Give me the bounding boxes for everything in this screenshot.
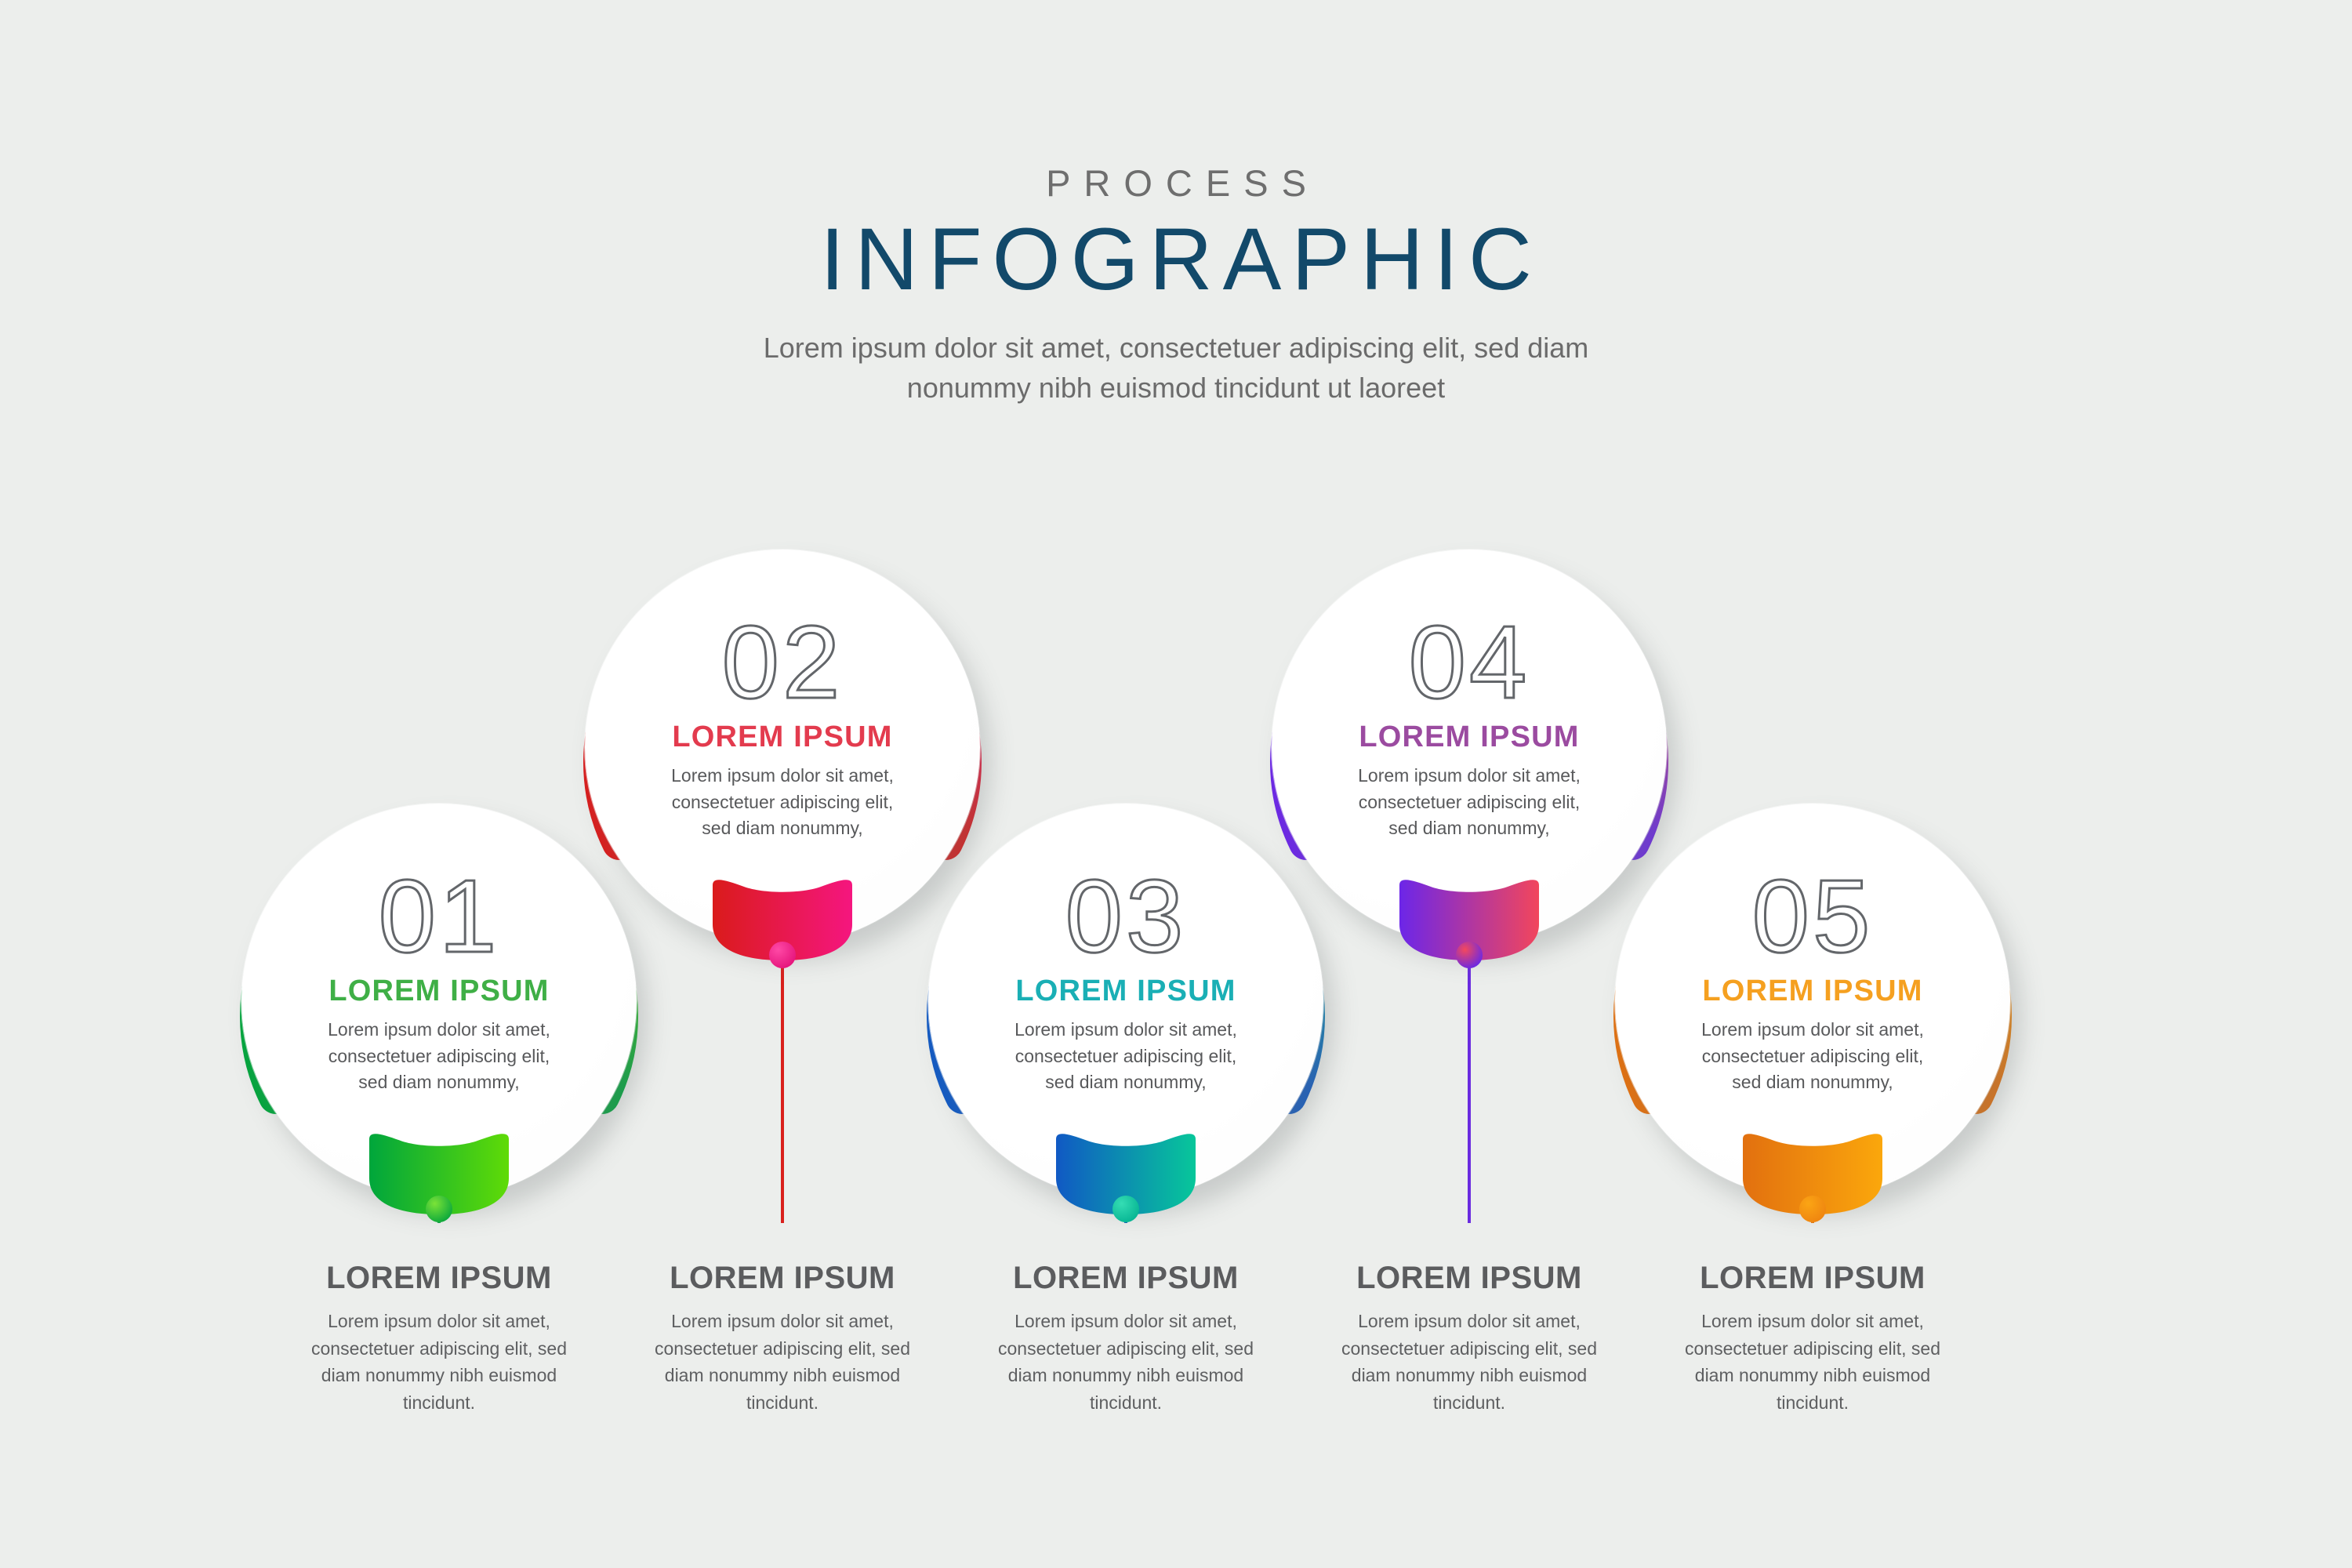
step-dot-05	[1799, 1196, 1826, 1222]
caption-title-2: LOREM IPSUM	[594, 1262, 971, 1294]
subtitle-line-1: Lorem ipsum dolor sit amet, consectetuer…	[737, 328, 1615, 368]
step-dot-03	[1112, 1196, 1139, 1222]
header: PROCESS INFOGRAPHIC Lorem ipsum dolor si…	[0, 165, 2352, 408]
caption-title-3: LOREM IPSUM	[938, 1262, 1314, 1294]
step-dot-01	[426, 1196, 452, 1222]
caption-title-5: LOREM IPSUM	[1624, 1262, 2001, 1294]
caption-desc-3: Lorem ipsum dolor sit amet,consectetuer …	[938, 1308, 1314, 1416]
step-dot-02	[769, 942, 796, 968]
caption-5: LOREM IPSUMLorem ipsum dolor sit amet,co…	[1624, 1262, 2001, 1416]
subtitle-line-2: nonummy nibh euismod tincidunt ut laoree…	[737, 368, 1615, 408]
caption-desc-2: Lorem ipsum dolor sit amet,consectetuer …	[594, 1308, 971, 1416]
page-subtitle: Lorem ipsum dolor sit amet, consectetuer…	[737, 328, 1615, 408]
connector-stem-02	[781, 955, 784, 1223]
caption-desc-1: Lorem ipsum dolor sit amet,consectetuer …	[251, 1308, 627, 1416]
page-kicker: PROCESS	[0, 165, 2352, 201]
caption-desc-5: Lorem ipsum dolor sit amet,consectetuer …	[1624, 1308, 2001, 1416]
caption-title-4: LOREM IPSUM	[1281, 1262, 1657, 1294]
caption-2: LOREM IPSUMLorem ipsum dolor sit amet,co…	[594, 1262, 971, 1416]
connector-stem-04	[1468, 955, 1471, 1223]
caption-desc-4: Lorem ipsum dolor sit amet,consectetuer …	[1281, 1308, 1657, 1416]
infographic-canvas: PROCESS INFOGRAPHIC Lorem ipsum dolor si…	[0, 0, 2352, 1568]
caption-title-1: LOREM IPSUM	[251, 1262, 627, 1294]
page-title: INFOGRAPHIC	[0, 212, 2352, 307]
caption-4: LOREM IPSUMLorem ipsum dolor sit amet,co…	[1281, 1262, 1657, 1416]
step-dot-04	[1456, 942, 1483, 968]
caption-3: LOREM IPSUMLorem ipsum dolor sit amet,co…	[938, 1262, 1314, 1416]
caption-1: LOREM IPSUMLorem ipsum dolor sit amet,co…	[251, 1262, 627, 1416]
